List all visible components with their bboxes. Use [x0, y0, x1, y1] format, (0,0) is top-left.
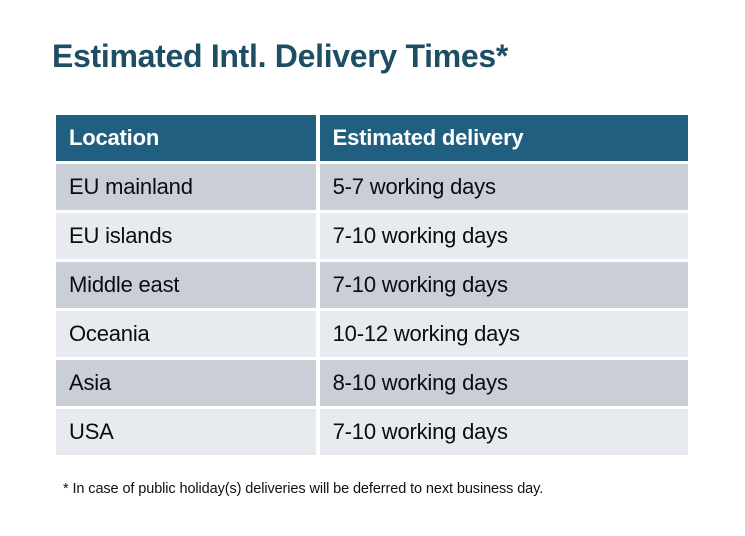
cell-estimated-delivery: 10-12 working days	[320, 311, 688, 357]
delivery-times-page: Estimated Intl. Delivery Times* Location…	[0, 0, 745, 536]
cell-estimated-delivery: 8-10 working days	[320, 360, 688, 406]
cell-location: USA	[56, 409, 316, 455]
cell-location: Oceania	[56, 311, 316, 357]
table-row: Middle east 7-10 working days	[56, 262, 688, 308]
table-row: EU mainland 5-7 working days	[56, 164, 688, 210]
table-row: Oceania 10-12 working days	[56, 311, 688, 357]
table-body: EU mainland 5-7 working days EU islands …	[56, 164, 688, 455]
cell-estimated-delivery: 7-10 working days	[320, 262, 688, 308]
cell-estimated-delivery: 7-10 working days	[320, 409, 688, 455]
cell-estimated-delivery: 5-7 working days	[320, 164, 688, 210]
cell-location: EU islands	[56, 213, 316, 259]
cell-location: Asia	[56, 360, 316, 406]
table-header: Location Estimated delivery	[56, 115, 688, 161]
table-row: EU islands 7-10 working days	[56, 213, 688, 259]
delivery-times-table: Location Estimated delivery EU mainland …	[52, 112, 692, 458]
column-header-estimated-delivery: Estimated delivery	[320, 115, 688, 161]
table-row: USA 7-10 working days	[56, 409, 688, 455]
cell-location: Middle east	[56, 262, 316, 308]
cell-location: EU mainland	[56, 164, 316, 210]
footnote-text: * In case of public holiday(s) deliverie…	[63, 481, 543, 497]
cell-estimated-delivery: 7-10 working days	[320, 213, 688, 259]
table-row: Asia 8-10 working days	[56, 360, 688, 406]
column-header-location: Location	[56, 115, 316, 161]
page-title: Estimated Intl. Delivery Times*	[52, 38, 508, 75]
table-header-row: Location Estimated delivery	[56, 115, 688, 161]
